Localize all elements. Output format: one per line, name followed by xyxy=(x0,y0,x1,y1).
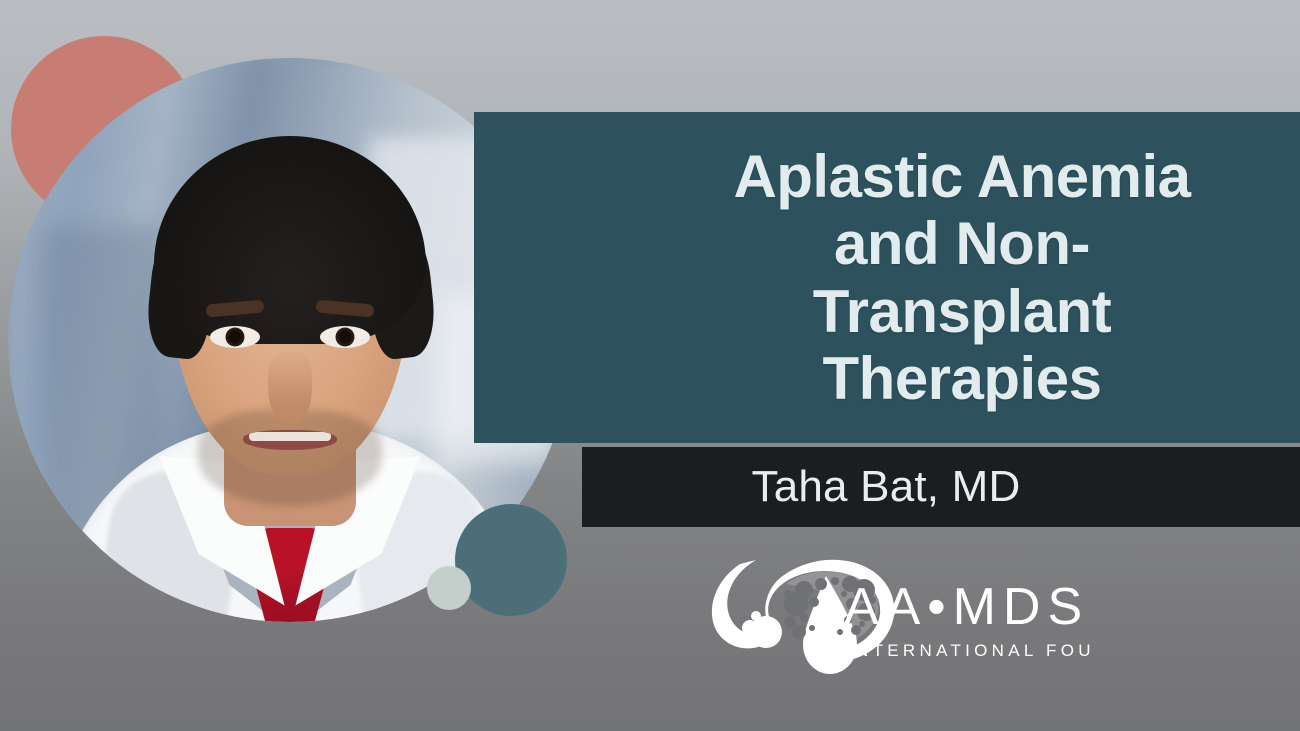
title-line-4: Therapies xyxy=(624,345,1300,412)
nose xyxy=(268,350,312,424)
speaker-name: Taha Bat, MD xyxy=(752,462,1131,512)
iris-left xyxy=(226,328,245,347)
title-line-1: Aplastic Anemia xyxy=(624,143,1300,210)
svg-text:INTERNATIONAL FOUNDATION: INTERNATIONAL FOUNDATION xyxy=(847,641,1096,660)
beard-stubble xyxy=(198,410,382,506)
eye-left xyxy=(210,326,260,348)
teal-circle-decoration xyxy=(455,504,567,616)
aamds-logo: AA•MDS INTERNATIONAL FOUNDATION xyxy=(704,532,1096,680)
teeth xyxy=(249,432,332,441)
pale-circle-decoration xyxy=(427,566,471,610)
eye-right xyxy=(320,326,370,348)
svg-text:AA•MDS: AA•MDS xyxy=(844,578,1089,636)
iris-right xyxy=(336,328,355,347)
mouth xyxy=(243,430,337,450)
page-title: Aplastic Anemia and Non- Transplant Ther… xyxy=(474,143,1300,412)
title-line-2: and Non- xyxy=(624,210,1300,277)
title-panel: Aplastic Anemia and Non- Transplant Ther… xyxy=(474,112,1300,443)
logo-wordmark: AA•MDS INTERNATIONAL FOUNDATION xyxy=(844,578,1096,660)
speaker-banner: Taha Bat, MD xyxy=(582,447,1300,527)
title-slide: Aplastic Anemia and Non- Transplant Ther… xyxy=(0,0,1300,731)
bubble-small-icon xyxy=(742,620,758,636)
title-line-3: Transplant xyxy=(624,278,1300,345)
bubble-tiny-icon xyxy=(751,611,761,621)
